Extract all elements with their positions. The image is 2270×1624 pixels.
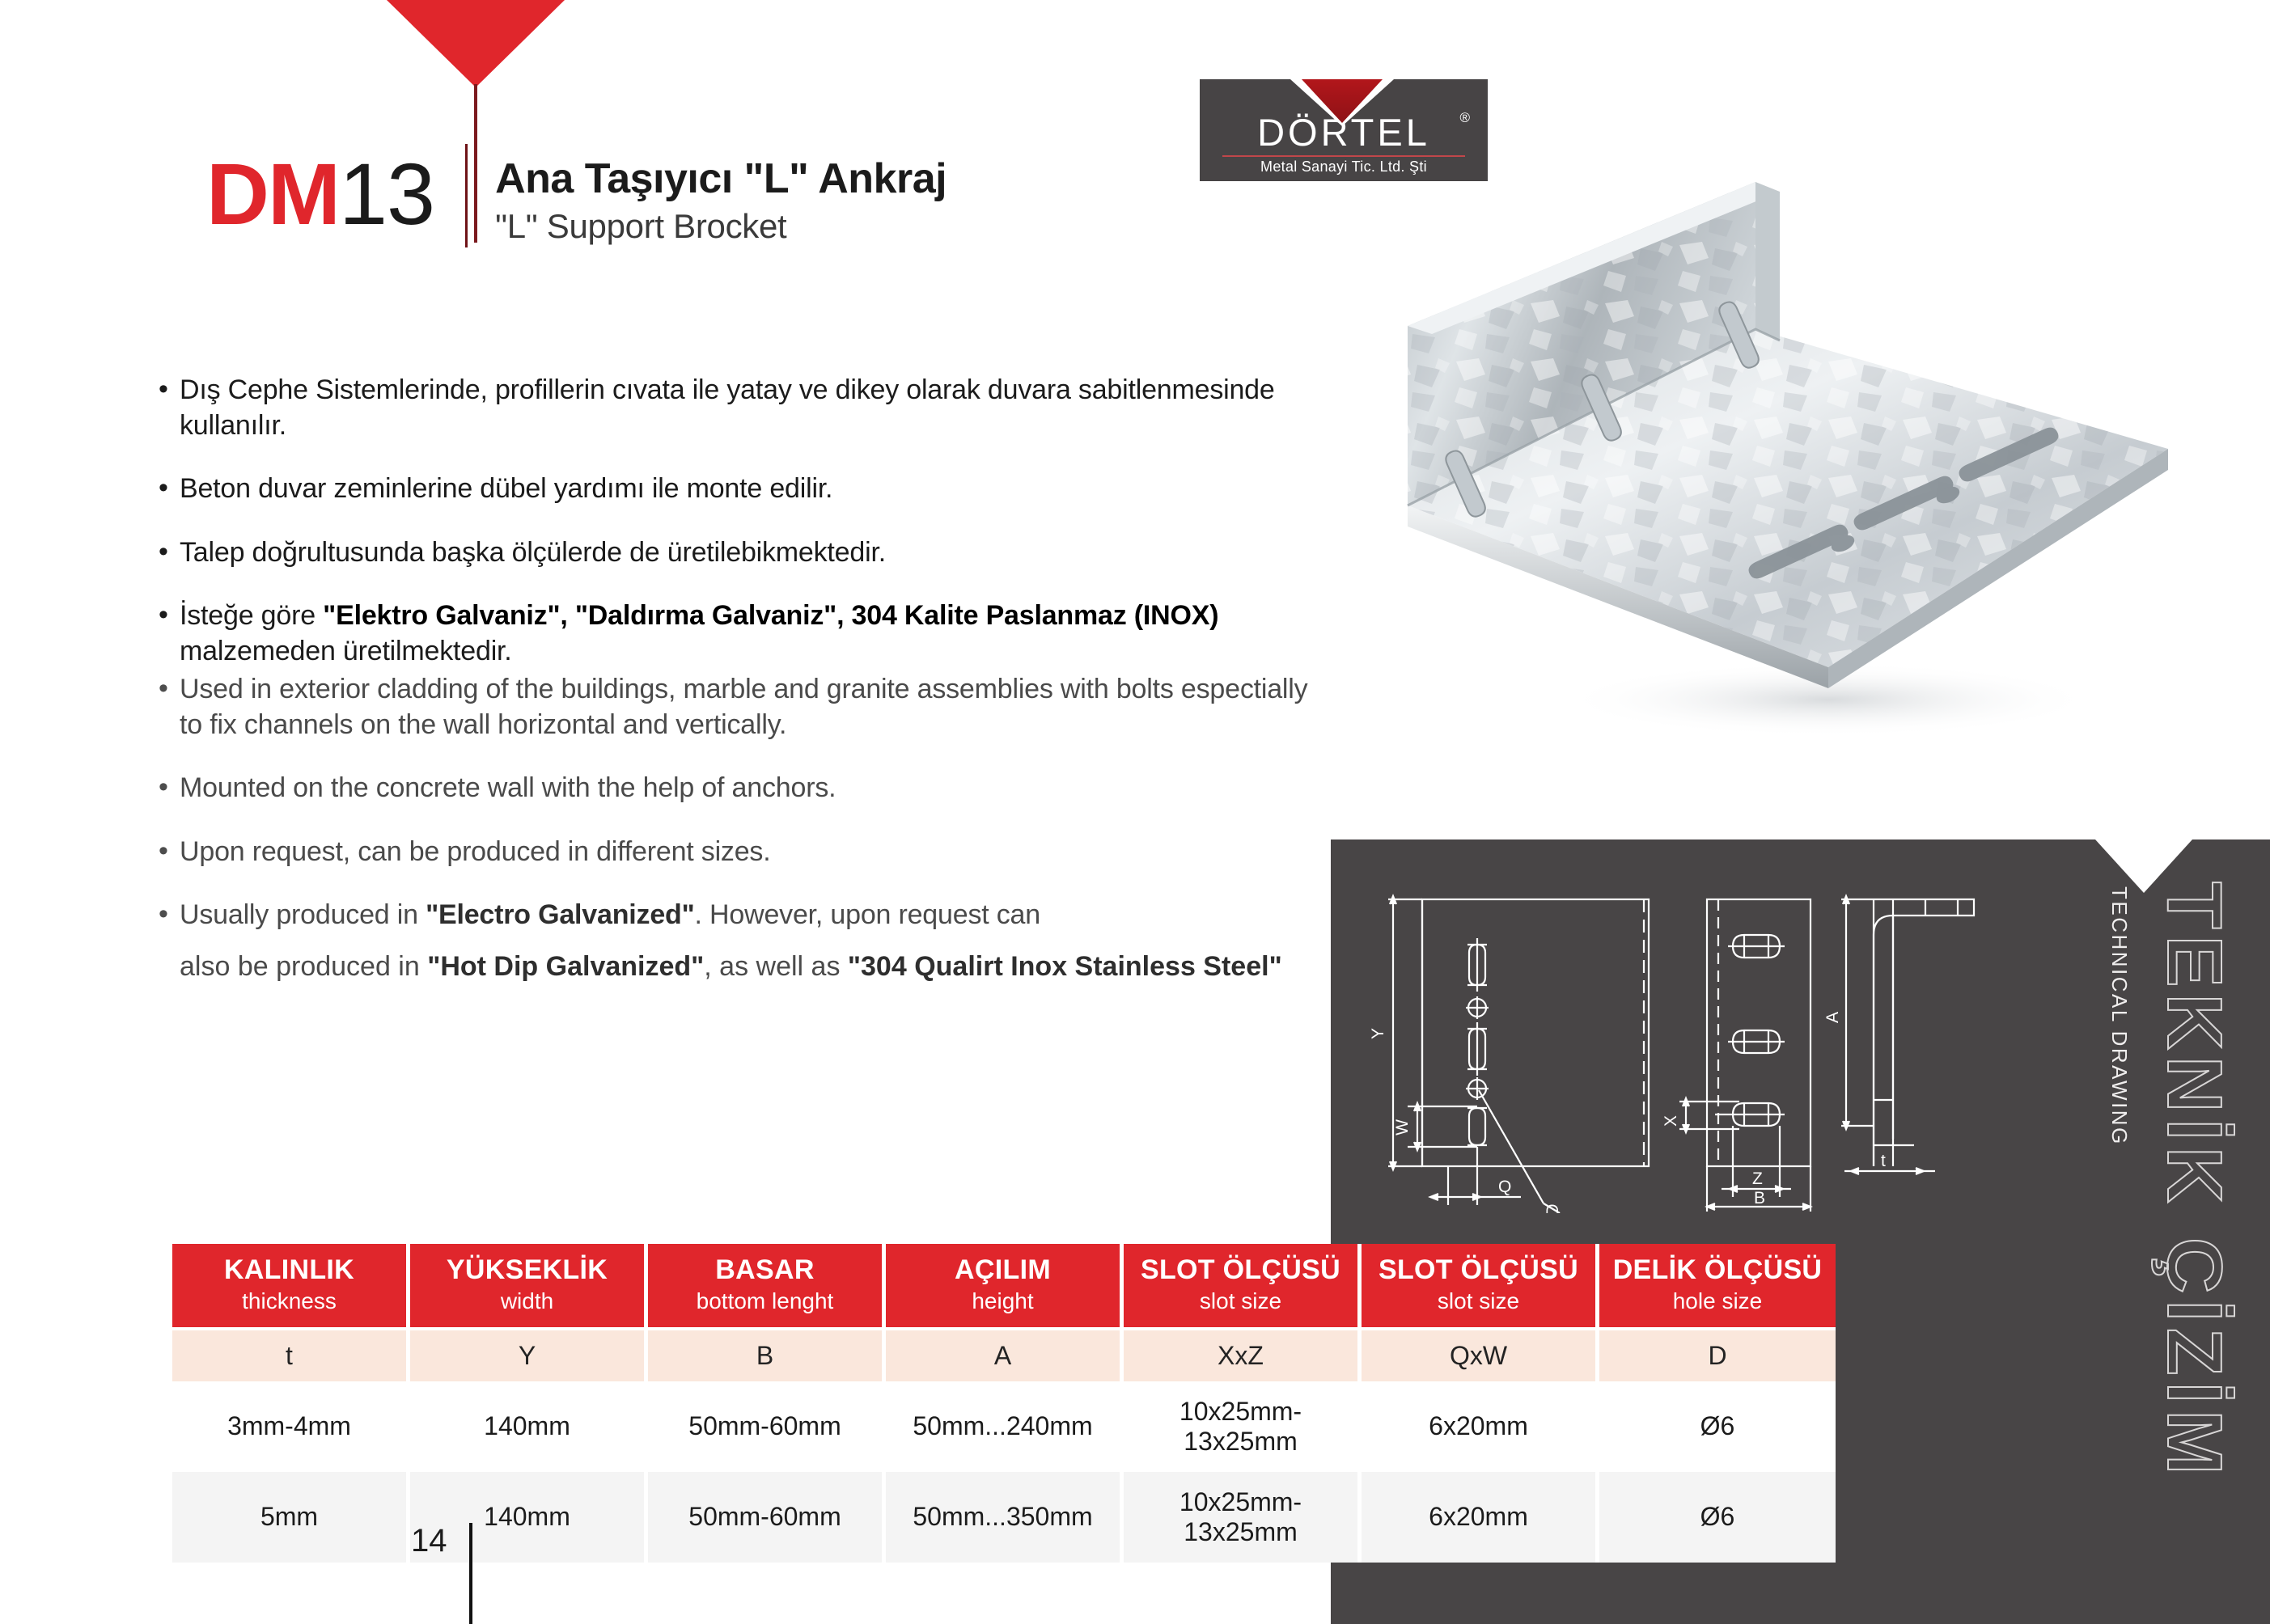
- cell: Ø6: [1599, 1472, 1836, 1563]
- material-en-line2: also be produced in "Hot Dip Galvanized"…: [180, 949, 1282, 984]
- list-item: • Beton duvar zeminlerine dübel yardımı …: [159, 471, 1315, 506]
- cell: 6x20mm: [1362, 1472, 1599, 1563]
- material-pre: İsteğe göre: [180, 600, 323, 631]
- col-header-tr: DELİK ÖLÇÜSÜ: [1603, 1255, 1832, 1285]
- description-list-en: • Used in exterior cladding of the build…: [159, 671, 1315, 1005]
- list-item-text: Mounted on the concrete wall with the he…: [180, 770, 836, 806]
- bullet-dot-icon: •: [159, 834, 180, 869]
- list-item-text: Upon request, can be produced in differe…: [180, 834, 770, 869]
- list-item: • Talep doğrultusunda başka ölçülerde de…: [159, 535, 1315, 570]
- cell: 6x20mm: [1362, 1381, 1599, 1472]
- list-item-text: Used in exterior cladding of the buildin…: [180, 671, 1315, 742]
- symbol-cell: D: [1599, 1330, 1836, 1381]
- cell: 50mm-60mm: [648, 1381, 886, 1472]
- logo-rule: [1222, 155, 1465, 157]
- product-code-number: 13: [339, 150, 434, 238]
- col-header-tr: YÜKSEKLİK: [413, 1255, 641, 1285]
- list-item: • Dış Cephe Sistemlerinde, profillerin c…: [159, 372, 1315, 443]
- col-header-en: slot size: [1365, 1289, 1592, 1314]
- material-en-bold3: "304 Qualirt Inox Stainless Steel": [848, 951, 1282, 982]
- dim-label-Z: Z: [1752, 1169, 1763, 1188]
- dim-label-Y: Y: [1369, 1028, 1387, 1039]
- brand-logo: DÖRTEL ® Metal Sanayi Tic. Ltd. Şti: [1200, 72, 1499, 181]
- bullet-dot-icon: •: [159, 598, 180, 633]
- cell: 3mm-4mm: [172, 1381, 410, 1472]
- bullet-dot-icon: •: [159, 770, 180, 806]
- cell: 50mm...240mm: [886, 1381, 1124, 1472]
- technical-drawing-label-en: TECHNICAL DRAWING: [2107, 886, 2132, 1226]
- table-symbol-row: t Y B A XxZ QxW D: [172, 1330, 1836, 1381]
- symbol-cell: Y: [410, 1330, 648, 1381]
- page-header: DM 13 Ana Taşıyıcı "L" Ankraj "L" Suppor…: [206, 150, 947, 247]
- material-en-line2-mid: , as well as: [704, 951, 848, 982]
- list-item-text: İsteğe göre "Elektro Galvaniz", "Daldırm…: [180, 598, 1315, 669]
- col-header-height: AÇILIM height: [886, 1244, 1124, 1330]
- col-header-hole-size: DELİK ÖLÇÜSÜ hole size: [1599, 1244, 1836, 1330]
- product-code-prefix: DM: [206, 150, 339, 238]
- catalog-page: DM 13 Ana Taşıyıcı "L" Ankraj "L" Suppor…: [0, 0, 2270, 1624]
- material-en-bold2: "Hot Dip Galvanized": [427, 951, 704, 982]
- cell: Ø6: [1599, 1381, 1836, 1472]
- product-titles: Ana Taşıyıcı "L" Ankraj "L" Support Broc…: [495, 150, 947, 246]
- cell: 10x25mm-13x25mm: [1124, 1472, 1362, 1563]
- dim-label-t: t: [1881, 1152, 1886, 1170]
- dim-label-W: W: [1393, 1119, 1412, 1136]
- dim-label-B: B: [1754, 1189, 1765, 1207]
- list-item-text: Usually produced in "Electro Galvanized"…: [180, 897, 1282, 984]
- technical-drawing-label-tr: TEKNİK ÇİZİM: [2136, 882, 2233, 1496]
- col-header-en: height: [889, 1289, 1116, 1314]
- page-number: 14: [411, 1523, 447, 1559]
- col-header-tr: SLOT ÖLÇÜSÜ: [1365, 1255, 1592, 1285]
- col-header-en: slot size: [1127, 1289, 1354, 1314]
- col-header-slot-size-1: SLOT ÖLÇÜSÜ slot size: [1124, 1244, 1362, 1330]
- technical-drawing-svg: Y W Q D X Z B A t: [1359, 857, 2087, 1213]
- material-en-line1: Usually produced in "Electro Galvanized"…: [180, 899, 1040, 930]
- dim-label-A: A: [1823, 1012, 1842, 1023]
- logo-subtitle: Metal Sanayi Tic. Ltd. Şti: [1200, 159, 1488, 176]
- col-header-en: width: [413, 1289, 641, 1314]
- col-header-bottom-length: BASAR bottom lenght: [648, 1244, 886, 1330]
- col-header-en: hole size: [1603, 1289, 1832, 1314]
- logo-box: DÖRTEL ® Metal Sanayi Tic. Ltd. Şti: [1200, 79, 1488, 181]
- dim-label-Q: Q: [1498, 1178, 1511, 1196]
- symbol-cell: A: [886, 1330, 1124, 1381]
- material-en-pre: Usually produced in: [180, 899, 426, 930]
- col-header-tr: KALINLIK: [176, 1255, 403, 1285]
- material-en-bold1: "Electro Galvanized": [426, 899, 694, 930]
- page-subtitle: "L" Support Brocket: [495, 207, 947, 246]
- cell: 10x25mm-13x25mm: [1124, 1381, 1362, 1472]
- col-header-thickness: KALINLIK thickness: [172, 1244, 410, 1330]
- cell: 50mm-60mm: [648, 1472, 886, 1563]
- material-bold: "Elektro Galvaniz", "Daldırma Galvaniz",…: [323, 600, 1218, 631]
- product-code: DM 13: [206, 150, 434, 238]
- material-post: malzemeden üretilmektedir.: [180, 636, 512, 666]
- table-row: 3mm-4mm 140mm 50mm-60mm 50mm...240mm 10x…: [172, 1381, 1836, 1472]
- page-title: Ana Taşıyıcı "L" Ankraj: [495, 155, 947, 202]
- symbol-cell: QxW: [1362, 1330, 1599, 1381]
- dim-label-X: X: [1662, 1115, 1680, 1127]
- header-divider: [465, 144, 468, 247]
- bullet-dot-icon: •: [159, 897, 180, 933]
- cell: 50mm...350mm: [886, 1472, 1124, 1563]
- cell: 5mm: [172, 1472, 410, 1563]
- col-header-tr: AÇILIM: [889, 1255, 1116, 1285]
- spec-table-wrapper: KALINLIK thickness YÜKSEKLİK width BASAR…: [172, 1244, 1836, 1563]
- col-header-slot-size-2: SLOT ÖLÇÜSÜ slot size: [1362, 1244, 1599, 1330]
- table-header-row: KALINLIK thickness YÜKSEKLİK width BASAR…: [172, 1244, 1836, 1330]
- technical-drawing: Y W Q D X Z B A t: [1359, 857, 2087, 1213]
- col-header-tr: BASAR: [651, 1255, 879, 1285]
- bullet-dot-icon: •: [159, 671, 180, 707]
- material-en-line2-pre: also be produced in: [180, 951, 427, 982]
- product-photo: [1375, 182, 2192, 748]
- symbol-cell: B: [648, 1330, 886, 1381]
- top-chevron-decoration: [387, 0, 565, 87]
- spec-table: KALINLIK thickness YÜKSEKLİK width BASAR…: [172, 1244, 1836, 1563]
- l-bracket-photo-icon: [1375, 182, 2192, 748]
- technical-drawing-label: TECHNICAL DRAWING TEKNİK ÇİZİM: [2100, 882, 2246, 1529]
- symbol-cell: XxZ: [1124, 1330, 1362, 1381]
- col-header-en: thickness: [176, 1289, 403, 1314]
- dim-label-D: D: [1544, 1203, 1562, 1213]
- bullet-dot-icon: •: [159, 372, 180, 408]
- col-header-en: bottom lenght: [651, 1289, 879, 1314]
- bullet-dot-icon: •: [159, 471, 180, 506]
- list-item-text: Dış Cephe Sistemlerinde, profillerin cıv…: [180, 372, 1315, 443]
- footer-rule: [469, 1523, 472, 1624]
- registered-mark: ®: [1459, 110, 1470, 126]
- col-header-tr: SLOT ÖLÇÜSÜ: [1127, 1255, 1354, 1285]
- description-list-tr: • Dış Cephe Sistemlerinde, profillerin c…: [159, 372, 1315, 690]
- cell: 140mm: [410, 1381, 648, 1472]
- list-item: • Mounted on the concrete wall with the …: [159, 770, 1315, 806]
- material-en-mid: . However, upon request can: [695, 899, 1040, 930]
- list-item: • Upon request, can be produced in diffe…: [159, 834, 1315, 869]
- list-item-material: • İsteğe göre "Elektro Galvaniz", "Daldı…: [159, 598, 1315, 669]
- list-item-material-en: • Usually produced in "Electro Galvanize…: [159, 897, 1315, 984]
- list-item-text: Talep doğrultusunda başka ölçülerde de ü…: [180, 535, 886, 570]
- col-header-width: YÜKSEKLİK width: [410, 1244, 648, 1330]
- bullet-dot-icon: •: [159, 535, 180, 570]
- symbol-cell: t: [172, 1330, 410, 1381]
- list-item: • Used in exterior cladding of the build…: [159, 671, 1315, 742]
- list-item-text: Beton duvar zeminlerine dübel yardımı il…: [180, 471, 832, 506]
